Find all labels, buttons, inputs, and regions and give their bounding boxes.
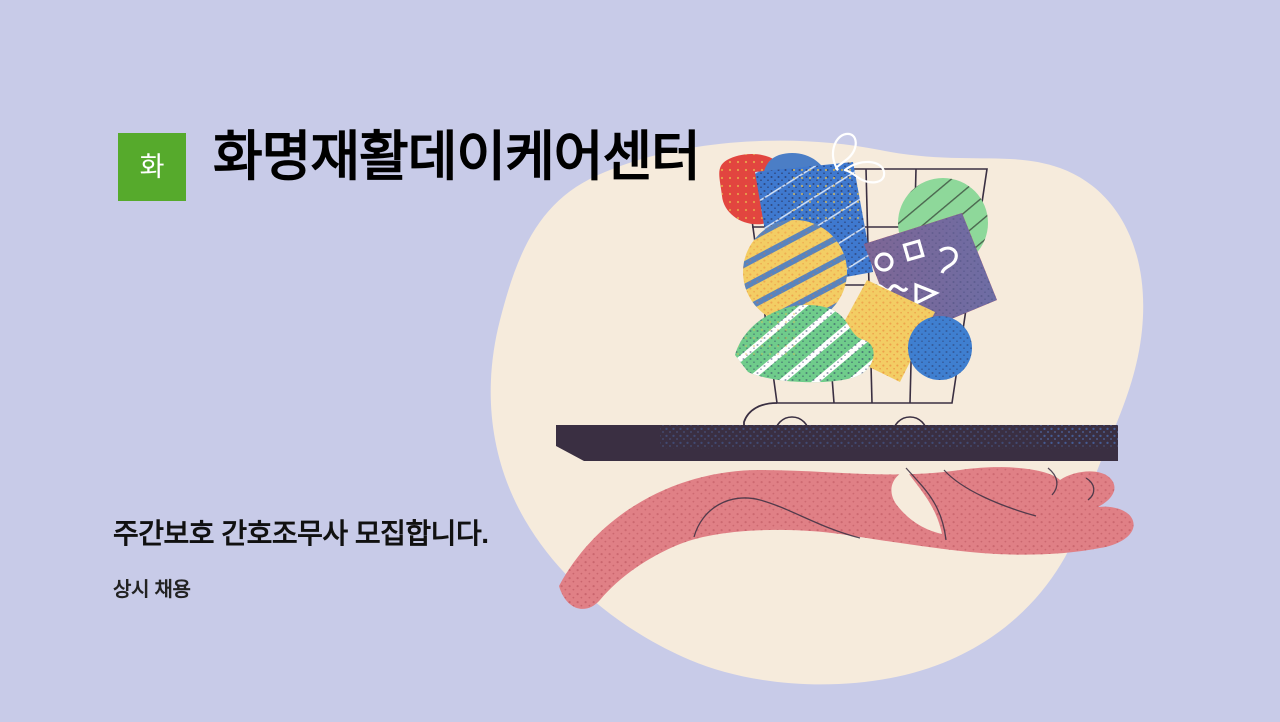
ribbon-bow-icon xyxy=(833,134,884,183)
cart-item-green-circle xyxy=(895,175,995,275)
tag-doodles xyxy=(875,241,956,303)
job-posting-card: 화 화명재활데이케어센터 주간보호 간호조무사 모집합니다. 상시 채용 xyxy=(0,0,1280,722)
cart-item-red-tag xyxy=(860,210,1005,345)
cart-wheels xyxy=(768,417,934,438)
cart-item-yellow-circle xyxy=(740,218,855,328)
cart-item-red-blob xyxy=(700,140,820,240)
job-posting-subtitle: 상시 채용 xyxy=(113,573,191,602)
background-blob xyxy=(491,141,1144,685)
page-title: 화명재활데이케어센터 xyxy=(213,126,700,190)
avatar: 화 xyxy=(118,133,186,201)
shelf-bar xyxy=(556,425,1130,461)
hand-holding-shopping-cart-illustration xyxy=(0,0,1280,722)
cart-basket xyxy=(745,169,987,403)
cart-item-gift-box xyxy=(740,134,890,300)
cart-item-green-wave xyxy=(730,298,880,390)
hand-illustration xyxy=(550,465,1150,610)
avatar-initial: 화 xyxy=(140,154,165,181)
cart-item-blue-blob xyxy=(762,153,831,231)
cart-item-blue-circle xyxy=(906,314,976,384)
job-posting-title: 주간보호 간호조무사 모집합니다. xyxy=(113,512,488,552)
cart-item-yellow-square xyxy=(825,275,945,387)
cart-frame xyxy=(744,403,1045,434)
